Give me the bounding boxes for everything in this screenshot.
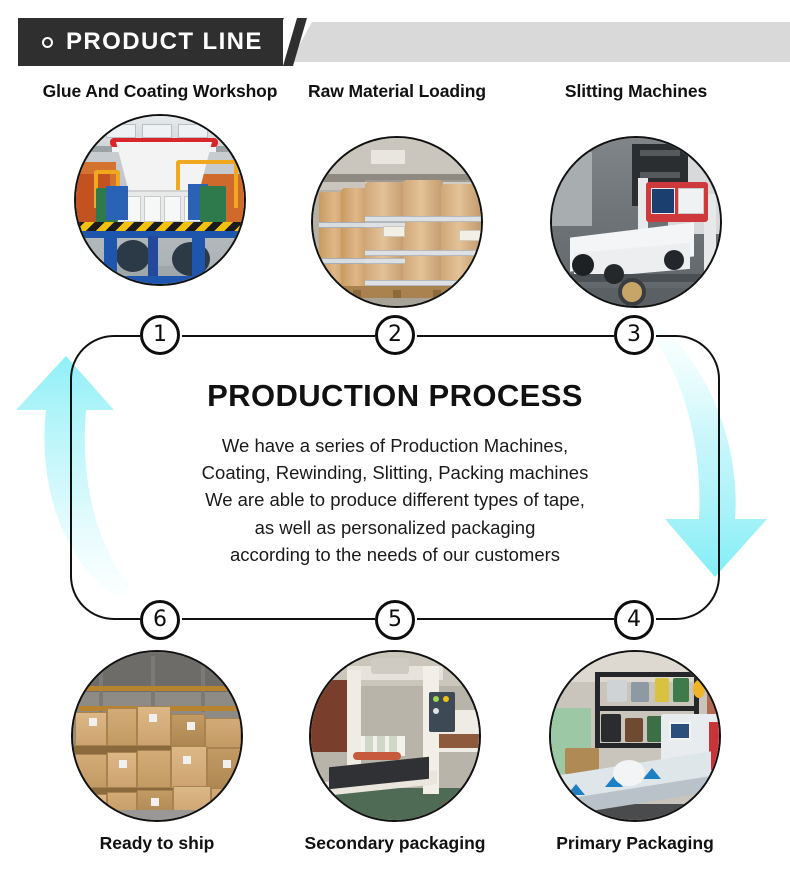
- card-title: Ready to ship: [32, 832, 282, 854]
- step-circle-4[interactable]: 4: [614, 600, 654, 640]
- process-line-2: Coating, Rewinding, Slitting, Packing ma…: [100, 459, 690, 486]
- primary-packaging-photo: [549, 650, 721, 822]
- card-title: Glue And Coating Workshop: [35, 80, 285, 102]
- process-heading: PRODUCTION PROCESS: [100, 378, 690, 414]
- card-ready-to-ship[interactable]: Ready to ship: [32, 650, 282, 854]
- banner-content: PRODUCT LINE: [18, 18, 263, 66]
- step-circle-5[interactable]: 5: [375, 600, 415, 640]
- product-line-infographic: PRODUCT LINE Glue And Coating Workshop: [0, 0, 790, 878]
- production-process-section: 1 2 3 6 5 4 PRODUCTION PROCESS We have a…: [0, 300, 790, 650]
- card-title: Raw Material Loading: [272, 80, 522, 102]
- step-circle-3[interactable]: 3: [614, 315, 654, 355]
- process-text-block: PRODUCTION PROCESS We have a series of P…: [100, 378, 690, 568]
- card-secondary-packaging[interactable]: Secondary packaging: [270, 650, 520, 854]
- card-glue-and-coating-workshop[interactable]: Glue And Coating Workshop: [35, 80, 285, 286]
- process-line-1: We have a series of Production Machines,: [100, 432, 690, 459]
- secondary-packaging-photo: [309, 650, 481, 822]
- process-line-4: as well as personalized packaging: [100, 514, 690, 541]
- card-title: Secondary packaging: [270, 832, 520, 854]
- process-line-5: according to the needs of our customers: [100, 541, 690, 568]
- process-line-3: We are able to produce different types o…: [100, 486, 690, 513]
- card-primary-packaging[interactable]: Primary Packaging: [510, 650, 760, 854]
- card-title: Slitting Machines: [511, 80, 761, 102]
- card-slitting-machines[interactable]: Slitting Machines: [511, 80, 761, 308]
- step-circle-2[interactable]: 2: [375, 315, 415, 355]
- card-title: Primary Packaging: [510, 832, 760, 854]
- step-circle-1[interactable]: 1: [140, 315, 180, 355]
- top-card-row: Glue And Coating Workshop: [0, 80, 790, 305]
- card-raw-material-loading[interactable]: Raw Material Loading: [272, 80, 522, 308]
- step-circle-6[interactable]: 6: [140, 600, 180, 640]
- slitting-machines-photo: [550, 136, 722, 308]
- bottom-card-row: Ready to ship: [0, 650, 790, 862]
- product-line-banner: PRODUCT LINE: [0, 18, 790, 66]
- raw-material-loading-photo: [311, 136, 483, 308]
- banner-title: PRODUCT LINE: [66, 30, 263, 54]
- ready-to-ship-photo: [71, 650, 243, 822]
- banner-gray-stripe: [290, 22, 790, 62]
- circle-outline-icon: [42, 37, 53, 48]
- glue-and-coating-workshop-photo: [74, 114, 246, 286]
